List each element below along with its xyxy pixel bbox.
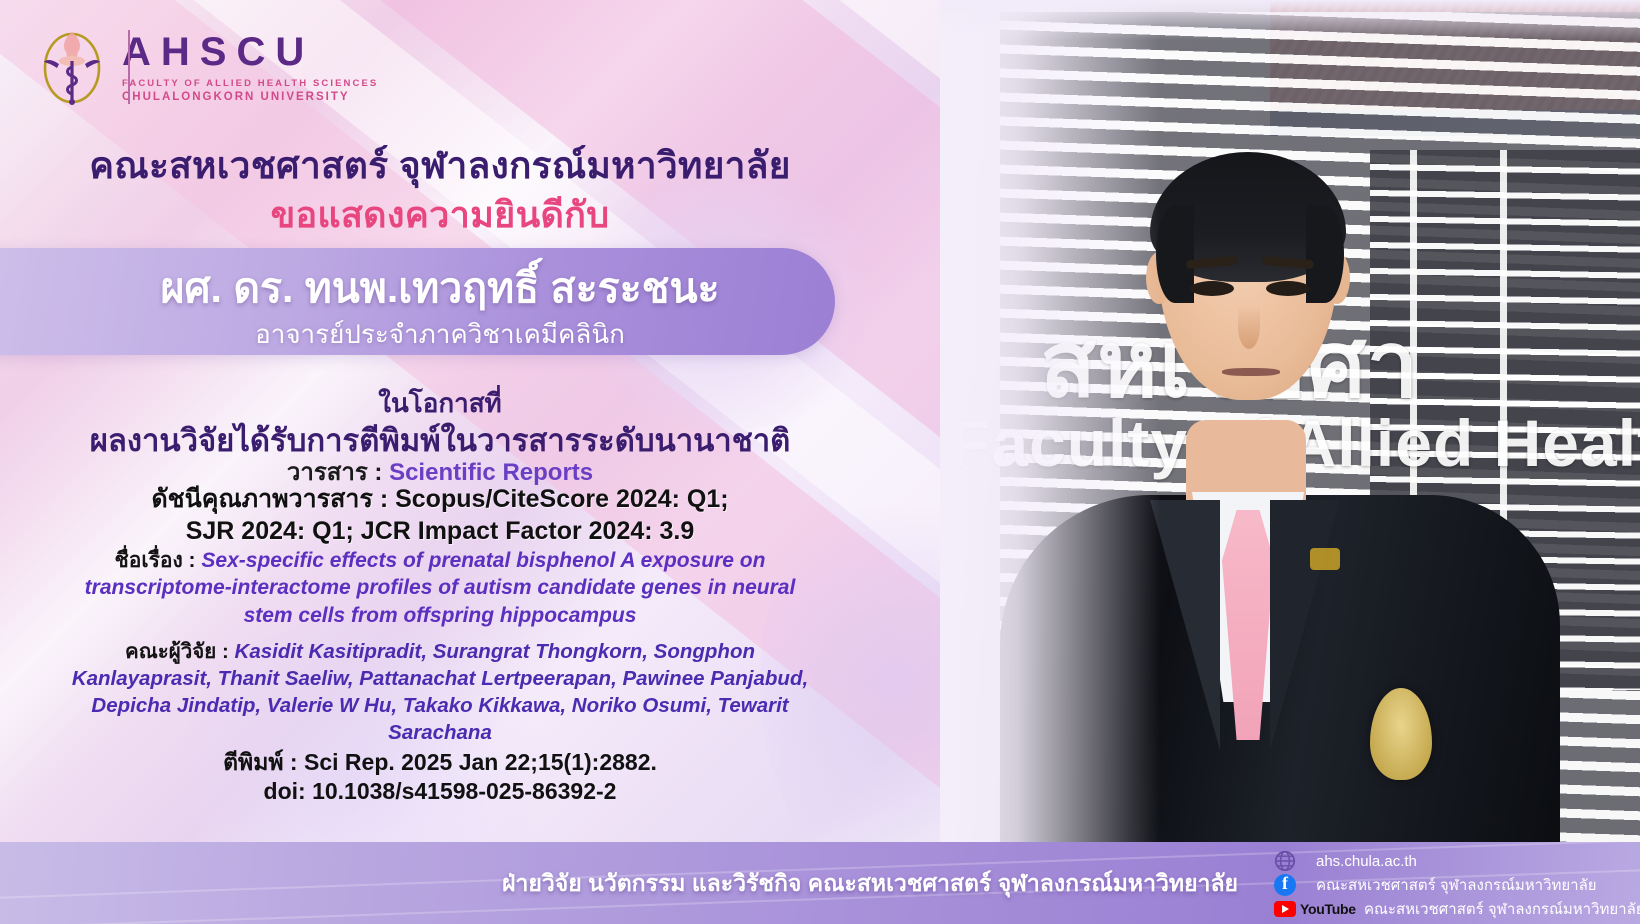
honoree-photo: สหเวชศา Faculty of Allied Health bbox=[940, 0, 1640, 870]
photo-top-fade bbox=[940, 0, 1640, 40]
photo-lapel-right bbox=[1270, 500, 1340, 750]
photo-lapel-left bbox=[1150, 500, 1220, 750]
footer-bar: ข้อมูล ณ วันที่ 31 ธันวาคม 2568 (Scopus)… bbox=[0, 842, 1640, 924]
published-doi: doi: 10.1038/s41598-025-86392-2 bbox=[0, 777, 880, 806]
footer-department-text: ฝ่ายวิจัย นวัตกรรม และวิรัชกิจ คณะสหเวชศ… bbox=[470, 866, 1270, 902]
footer-contacts: ahs.chula.ac.th คณะสหเวชศาสตร์ จุฬาลงกรณ… bbox=[1274, 850, 1626, 920]
ahscu-logo: AHSCU FACULTY OF ALLIED HEALTH SCIENCES … bbox=[36, 26, 378, 108]
photo-nose bbox=[1238, 305, 1260, 349]
photo-sideburn-right bbox=[1306, 205, 1344, 303]
contact-facebook-label: คณะสหเวชศาสตร์ จุฬาลงกรณ์มหาวิทยาลัย bbox=[1316, 873, 1597, 897]
published-citation-line: ตีพิมพ์ : Sci Rep. 2025 Jan 22;15(1):288… bbox=[0, 748, 880, 777]
photo-eye-left bbox=[1190, 281, 1234, 296]
photo-left-fade bbox=[940, 0, 1160, 870]
published-citation: Sci Rep. 2025 Jan 22;15(1):2882. bbox=[304, 749, 657, 775]
logo-acronym: AHSCU bbox=[122, 32, 378, 72]
contact-youtube-label: คณะสหเวชศาสตร์ จุฬาลงกรณ์มหาวิทยาลัย bbox=[1364, 897, 1640, 921]
logo-subtitle-faculty: FACULTY OF ALLIED HEALTH SCIENCES bbox=[122, 78, 378, 89]
logo-divider bbox=[128, 30, 130, 104]
photo-eye-right bbox=[1266, 281, 1310, 296]
quality-line-2: SJR 2024: Q1; JCR Impact Factor 2024: 3.… bbox=[0, 516, 880, 548]
youtube-wordmark: YouTube bbox=[1300, 901, 1356, 917]
contact-website-label: ahs.chula.ac.th bbox=[1316, 853, 1417, 870]
journal-value: Scientific Reports bbox=[389, 459, 593, 486]
article-title-block: ชื่อเรื่อง : Sex-specific effects of pre… bbox=[0, 547, 880, 629]
globe-icon bbox=[1274, 850, 1304, 872]
contact-website[interactable]: ahs.chula.ac.th bbox=[1274, 850, 1626, 872]
facebook-icon bbox=[1274, 874, 1304, 896]
honoree-name: ผศ. ดร. ทนพ.เทวฤทธิ์ สะระชนะ bbox=[0, 256, 880, 321]
published-block: ตีพิมพ์ : Sci Rep. 2025 Jan 22;15(1):288… bbox=[0, 748, 880, 806]
contact-facebook[interactable]: คณะสหเวชศาสตร์ จุฬาลงกรณ์มหาวิทยาลัย bbox=[1274, 874, 1626, 896]
caduceus-emblem-icon bbox=[36, 26, 108, 108]
poster-canvas: สหเวชศา Faculty of Allied Health bbox=[0, 0, 1640, 924]
header-congratulations-line: ขอแสดงความยินดีกับ bbox=[0, 186, 880, 243]
honoree-role: อาจารย์ประจำภาควิชาเคมีคลินิก bbox=[0, 314, 880, 355]
article-title-label: ชื่อเรื่อง : bbox=[115, 549, 196, 572]
contact-youtube[interactable]: YouTube คณะสหเวชศาสตร์ จุฬาลงกรณ์มหาวิทย… bbox=[1274, 898, 1626, 920]
journal-label: วารสาร : bbox=[287, 459, 383, 486]
youtube-icon: YouTube bbox=[1274, 898, 1352, 920]
logo-subtitle-university: CHULALONGKORN UNIVERSITY bbox=[122, 91, 378, 103]
authors-block: คณะผู้วิจัย : Kasidit Kasitipradit, Sura… bbox=[0, 638, 880, 746]
journal-quality-index: ดัชนีคุณภาพวารสาร : Scopus/CiteScore 202… bbox=[0, 484, 880, 547]
quality-line-1: ดัชนีคุณภาพวารสาร : Scopus/CiteScore 202… bbox=[0, 484, 880, 516]
authors-label: คณะผู้วิจัย : bbox=[125, 640, 229, 663]
photo-lapel-pin bbox=[1310, 548, 1340, 570]
photo-mouth bbox=[1222, 368, 1280, 376]
published-label: ตีพิมพ์ : bbox=[223, 749, 297, 775]
photo-sideburn-left bbox=[1156, 205, 1194, 303]
